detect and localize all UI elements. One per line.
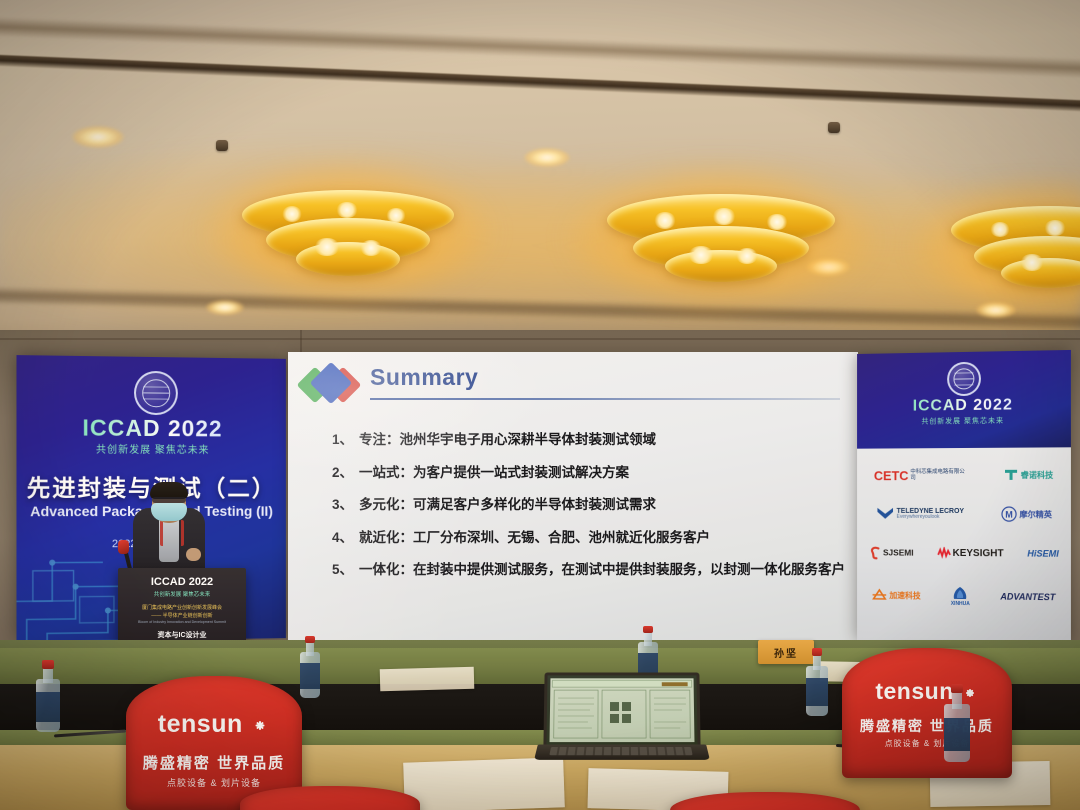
bullet-number: 5、: [332, 562, 353, 578]
sponsor-sub: Everywhereyoulook: [897, 515, 965, 520]
bottle-neck: [813, 655, 822, 670]
right-screen-tagline: 共创新发展 聚焦芯未来: [857, 415, 1071, 427]
chair-slogan-sub: 点胶设备 & 划片设备: [126, 776, 302, 789]
recessed-downlight: [524, 148, 570, 167]
speaker-face-mask: [151, 503, 187, 521]
moore-elite-icon: M: [1001, 506, 1017, 522]
sponsor-logo-xinhua: XINHUA: [951, 585, 970, 606]
bottle-cap: [42, 660, 54, 669]
sponsor-logo-sjsemi: SJSEMI: [868, 545, 913, 560]
bullet-number: 4、: [332, 530, 353, 546]
sponsor-label: CETC: [874, 469, 909, 482]
keysight-icon: [937, 547, 951, 559]
sponsor-logo-accelerate-tech: 加速科技: [872, 588, 921, 603]
slide-title: Summary: [370, 364, 478, 391]
teledyne-icon: [875, 505, 894, 523]
bullet-text: 一体化：在封装中提供测试服务，在测试中提供封装服务，以封测一体化服务客户: [359, 562, 845, 578]
slide-logo: [302, 366, 360, 398]
sprinkler-head: [828, 122, 840, 133]
sponsor-label: HiSEMI: [1027, 548, 1059, 558]
svg-text:M: M: [1006, 509, 1014, 519]
bullet-number: 2、: [332, 465, 353, 481]
bottle-neck: [952, 692, 962, 709]
list-item: 5、 一体化：在封装中提供测试服务，在测试中提供封装服务，以封测一体化服务客户: [332, 562, 848, 578]
sponsor-label: 睿诺科技: [1021, 469, 1053, 480]
bullet-number: 3、: [332, 497, 353, 513]
bottle-label: [944, 718, 970, 751]
wall-seam: [0, 338, 1080, 340]
sprinkler-head: [216, 140, 228, 151]
bottle-label: [806, 678, 828, 707]
bottle-neck: [43, 667, 53, 683]
sponsor-label: 加速科技: [889, 590, 920, 601]
recessed-downlight: [206, 300, 244, 315]
bullet-text: 就近化：工厂分布深圳、无锡、合肥、池州就近化服务客户: [359, 530, 710, 546]
sponsor-row: SJSEMI KEYSIGHT HiSEMI: [857, 539, 1071, 567]
sponsor-label: 摩尔精英: [1019, 509, 1051, 520]
sponsor-row: TELEDYNE LECROY Everywhereyoulook M 摩尔精英: [857, 500, 1071, 528]
sponsor-logo-teledyne-lecroy: TELEDYNE LECROY Everywhereyoulook: [875, 505, 964, 523]
podium-tagline: 共创新发展 聚焦芯未来: [126, 590, 238, 598]
presentation-slide: Summary 1、 专注：池州华宇电子用心深耕半导体封装测试领域 2、 一站式…: [288, 352, 858, 644]
list-item: 1、 专注：池州华宇电子用心深耕半导体封装测试领域: [332, 432, 848, 448]
list-item: 4、 就近化：工厂分布深圳、无锡、合肥、池州就近化服务客户: [332, 530, 848, 546]
right-screen-brand: ICCAD 2022: [857, 396, 1071, 417]
water-bottle: [806, 648, 828, 716]
water-bottle: [300, 636, 320, 698]
iccad-emblem: [947, 362, 981, 397]
iccad-emblem: [134, 371, 178, 415]
laptop-diagram: [550, 678, 695, 742]
sponsor-sub: 中科芯集成电路有限公司: [910, 469, 967, 481]
sponsor-logo-hisemi: HiSEMI: [1027, 548, 1059, 558]
sponsor-row: CETC 中科芯集成电路有限公司 睿诺科技: [857, 462, 1071, 489]
chair-slogan: 腾盛精密 世界品质: [126, 752, 302, 773]
bottle-cap: [305, 636, 315, 643]
podium-line3: Bloom of Industry Innovation and Develop…: [126, 620, 238, 624]
bottle-label: [36, 692, 60, 722]
list-item: 2、 一站式：为客户提供一站式封装测试解决方案: [332, 465, 848, 481]
podium-line2: —— 半导体产业链创新创新: [126, 612, 238, 619]
sponsor-label: XINHUA: [951, 600, 970, 606]
sponsor-label: KEYSIGHT: [953, 547, 1004, 558]
slide-bullet-list: 1、 专注：池州华宇电子用心深耕半导体封装测试领域 2、 一站式：为客户提供一站…: [332, 432, 848, 595]
speaker-hand: [186, 548, 201, 561]
sponsor-board-header: ICCAD 2022 共创新发展 聚焦芯未来: [857, 350, 1071, 449]
bullet-number: 1、: [332, 432, 353, 448]
recessed-downlight: [72, 126, 124, 148]
bottle-label: [300, 663, 320, 689]
bottle-cap: [951, 684, 963, 693]
left-screen-tagline: 共创新发展 聚焦芯未来: [16, 440, 285, 456]
right-sponsor-board: ICCAD 2022 共创新发展 聚焦芯未来 CETC 中科芯集成电路有限公司 …: [857, 350, 1071, 644]
sunburst-icon: [250, 715, 270, 735]
bottle-neck: [644, 632, 652, 646]
bullet-text: 多元化：可满足客户多样化的半导体封装测试需求: [359, 497, 656, 513]
sjsemi-icon: [868, 545, 881, 560]
bottle-cap: [643, 626, 653, 633]
microphone-head: [118, 540, 129, 554]
sponsor-logo-cetc: CETC 中科芯集成电路有限公司: [874, 468, 968, 481]
podium-line1: 厦门集成电路产业创新创新发展峰会: [126, 604, 238, 611]
left-screen-brand: ICCAD 2022: [16, 414, 285, 443]
placard-name: 孙坚: [774, 645, 798, 660]
laptop-keyboard[interactable]: [549, 747, 692, 755]
sponsor-logo-moore-elite: M 摩尔精英: [1001, 506, 1052, 522]
laptop[interactable]: [536, 672, 708, 764]
chair-slogan-sub: 点胶设备 & 划片设备: [842, 738, 1012, 749]
sponsor-label: SJSEMI: [883, 547, 913, 557]
xinhua-icon: [951, 585, 969, 600]
tsingtech-icon: [1003, 467, 1019, 483]
accotest-icon: [872, 588, 888, 602]
sponsor-row: 加速科技 XINHUA ADVANTEST: [857, 581, 1071, 612]
bottle-neck: [306, 642, 314, 656]
chair-slogan: 腾盛精密 世界品质: [842, 716, 1012, 736]
crystal-chandelier: [944, 194, 1080, 300]
chair-cover-right: tensun 腾盛精密 世界品质 点胶设备 & 划片设备: [842, 648, 1012, 778]
bottle-cap: [812, 648, 823, 656]
sponsor-logo-advantest: ADVANTEST: [1000, 591, 1055, 602]
sponsor-logo-tsingtech: 睿诺科技: [1003, 467, 1054, 483]
ceiling: [0, 0, 1080, 352]
sponsor-logo-grid: CETC 中科芯集成电路有限公司 睿诺科技 TELEDYNE LECRO: [857, 447, 1071, 644]
laptop-screen: [543, 672, 700, 748]
water-bottle: [944, 684, 970, 762]
document-paper: [380, 667, 475, 691]
document-paper: [403, 757, 565, 810]
sponsor-logo-keysight: KEYSIGHT: [937, 547, 1004, 560]
list-item: 3、 多元化：可满足客户多样化的半导体封装测试需求: [332, 497, 848, 513]
laptop-keyboard-base[interactable]: [534, 744, 710, 759]
speaker-lanyard: [160, 520, 184, 546]
bullet-text: 一站式：为客户提供一站式封装测试解决方案: [359, 465, 629, 481]
crystal-chandelier: [228, 176, 468, 288]
water-bottle: [36, 660, 60, 732]
chair-brand: tensun: [842, 678, 1012, 705]
crystal-chandelier: [596, 182, 846, 294]
laptop-screen-content: [550, 678, 695, 742]
bullet-text: 专注：池州华宇电子用心深耕半导体封装测试领域: [359, 432, 656, 448]
chair-brand: tensun: [126, 710, 302, 739]
conference-photo-scene: ICCAD 2022 共创新发展 聚焦芯未来 先进封装与测试（二） Advanc…: [0, 0, 1080, 810]
title-underline: [370, 398, 840, 400]
podium-brand: ICCAD 2022: [126, 576, 238, 588]
sponsor-label: ADVANTEST: [1000, 591, 1055, 602]
